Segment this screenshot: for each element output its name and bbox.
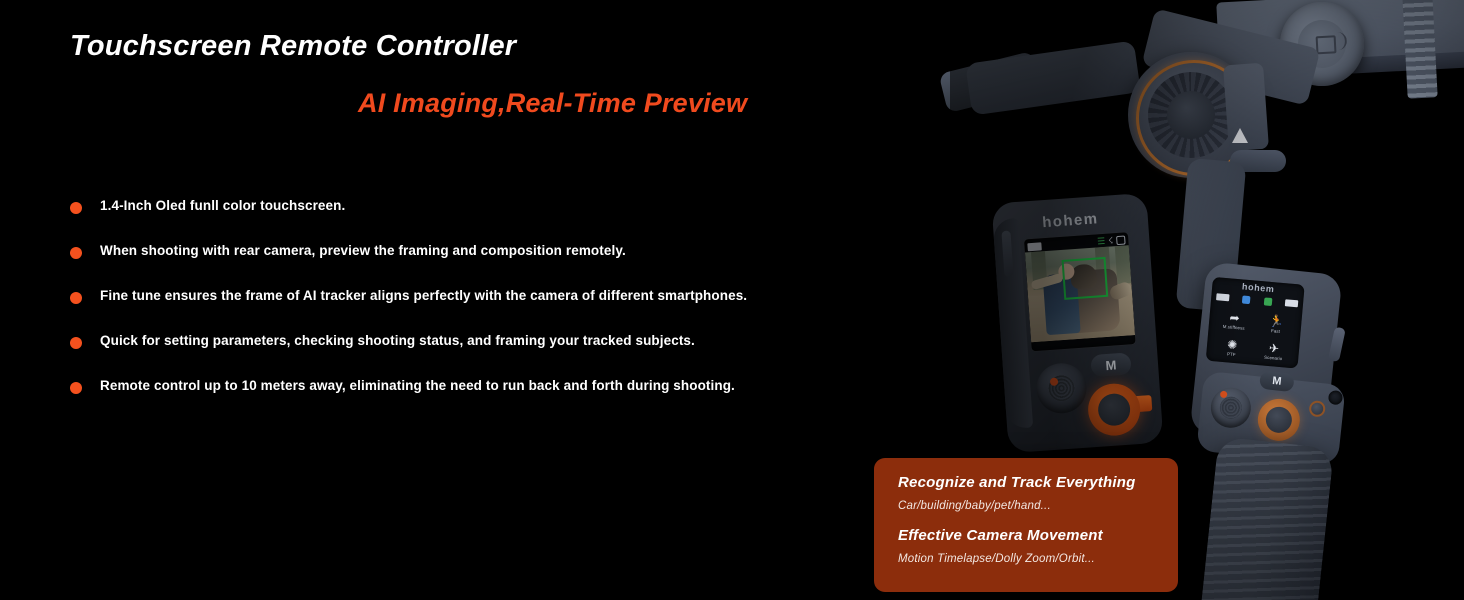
menu-item-stiffness[interactable]: ➦ M.stiffness xyxy=(1212,305,1256,336)
feature-text: Fine tune ensures the frame of AI tracke… xyxy=(100,288,747,304)
remote-record-button[interactable] xyxy=(1086,382,1142,438)
feature-text: When shooting with rear camera, preview … xyxy=(100,243,626,259)
remote-control-panel: M xyxy=(1026,349,1152,443)
callout-sub-1: Car/building/baby/pet/hand... xyxy=(898,500,1178,512)
promo-banner: Touchscreen Remote Controller AI Imaging… xyxy=(0,0,1464,600)
bullet-dot-icon xyxy=(70,202,82,214)
ptf-icon: ✺ xyxy=(1227,338,1238,351)
list-item: Fine tune ensures the frame of AI tracke… xyxy=(70,288,870,333)
gimbal-yoke xyxy=(965,40,1141,115)
clamp-rail xyxy=(1402,0,1437,99)
gimbal-mode-button[interactable]: M xyxy=(1259,371,1295,392)
menu-item-ptf[interactable]: ✺ PTF xyxy=(1210,332,1254,363)
tree-shape xyxy=(1115,245,1132,284)
bullet-dot-icon xyxy=(70,382,82,394)
gimbal-screen[interactable]: hohem ➦ M.stiffness 🏃 Fast xyxy=(1206,277,1305,369)
gimbal-menu-grid: ➦ M.stiffness 🏃 Fast ✺ PTF ✈ Scenario xyxy=(1210,305,1298,366)
feature-text: Remote control up to 10 meters away, eli… xyxy=(100,378,735,394)
remote-joystick[interactable] xyxy=(1035,362,1088,415)
bullet-dot-icon xyxy=(70,292,82,304)
gimbal-port xyxy=(1328,390,1343,405)
gimbal-handle-grip xyxy=(1198,436,1334,600)
menu-label: M.stiffness xyxy=(1223,323,1245,330)
battery-icon xyxy=(1216,293,1230,301)
remote-touchscreen[interactable]: ☰ ☇ xyxy=(1024,232,1136,351)
battery-level-icon xyxy=(1285,299,1299,307)
bluetooth-icon xyxy=(1242,295,1251,304)
menu-item-scenario[interactable]: ✈ Scenario xyxy=(1252,336,1296,367)
fast-runner-icon: 🏃 xyxy=(1268,314,1284,327)
callout-sub-2: Motion Timelapse/Dolly Zoom/Orbit... xyxy=(898,553,1178,565)
list-item: Quick for setting parameters, checking s… xyxy=(70,333,870,378)
menu-label: PTF xyxy=(1227,351,1236,357)
menu-label: Scenario xyxy=(1264,354,1283,361)
bluetooth-icon: ☇ xyxy=(1108,236,1114,245)
page-subtitle: AI Imaging,Real-Time Preview xyxy=(358,88,747,119)
feature-list: 1.4-Inch Oled funll color touchscreen. W… xyxy=(70,198,870,423)
list-item: Remote control up to 10 meters away, eli… xyxy=(70,378,870,423)
battery-icon xyxy=(1027,242,1042,251)
wifi-icon: ☰ xyxy=(1097,237,1106,247)
gimbal-joystick[interactable] xyxy=(1209,386,1253,430)
bullet-dot-icon xyxy=(70,337,82,349)
mode-icon xyxy=(1116,235,1126,245)
scenario-icon: ✈ xyxy=(1269,342,1280,355)
status-spacer xyxy=(1045,242,1095,245)
feature-callout-box: Recognize and Track Everything Car/build… xyxy=(874,458,1178,592)
callout-heading-2: Effective Camera Movement xyxy=(898,527,1178,544)
remote-preview-image xyxy=(1025,245,1135,342)
feature-text: 1.4-Inch Oled funll color touchscreen. xyxy=(100,198,345,214)
remote-controller: hohem ☰ ☇ xyxy=(991,193,1163,453)
bullet-dot-icon xyxy=(70,247,82,259)
list-item: 1.4-Inch Oled funll color touchscreen. xyxy=(70,198,870,243)
gimbal-side-button[interactable] xyxy=(1328,327,1346,363)
callout-heading-1: Recognize and Track Everything xyxy=(898,474,1178,491)
alignment-marker-icon xyxy=(1232,128,1248,143)
remote-mode-button[interactable]: M xyxy=(1090,352,1131,377)
menu-label: Fast xyxy=(1271,328,1280,334)
menu-item-fast[interactable]: 🏃 Fast xyxy=(1254,309,1298,340)
ai-tracking-box xyxy=(1062,257,1109,300)
gimbal-record-button[interactable] xyxy=(1256,397,1302,443)
gimbal-trigger-button[interactable] xyxy=(1308,400,1326,418)
list-item: When shooting with rear camera, preview … xyxy=(70,243,870,288)
page-title: Touchscreen Remote Controller xyxy=(70,30,516,63)
motor-stiffness-icon: ➦ xyxy=(1229,311,1240,324)
feature-text: Quick for setting parameters, checking s… xyxy=(100,333,695,349)
record-icon xyxy=(1263,297,1272,306)
nfc-icon xyxy=(1316,35,1337,54)
